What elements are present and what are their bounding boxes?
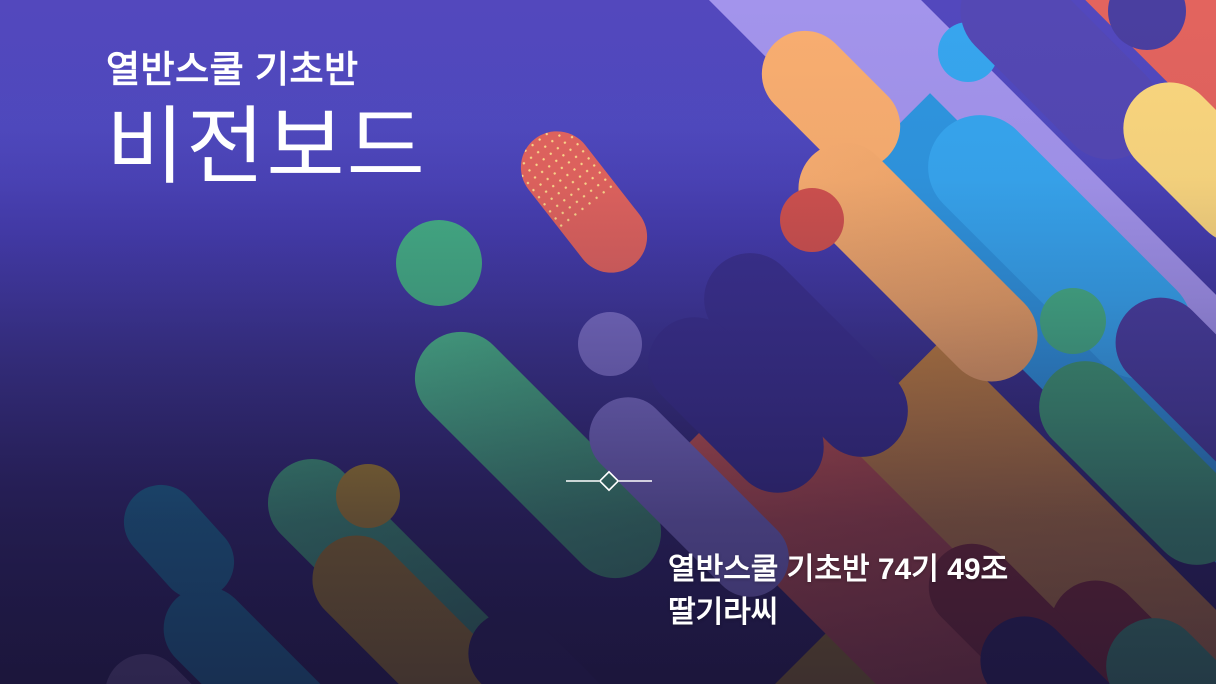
red-circle-shape	[780, 188, 844, 252]
page-title: 비전보드	[106, 98, 726, 198]
credit-block: 열반스쿨 기초반 74기 49조 딸기라씨	[668, 549, 1188, 634]
eyebrow-text: 열반스쿨 기초반	[106, 48, 726, 92]
lavender-circle-shape	[578, 312, 642, 376]
gold-circle-shape	[336, 464, 400, 528]
diamond-divider-icon	[566, 470, 652, 492]
dark-navy-capsule-shape	[451, 594, 673, 684]
headline-group: 열반스쿨 기초반 비전보드	[106, 48, 726, 198]
green-circle-shape	[396, 220, 482, 306]
green-circle-right-shape	[1040, 288, 1106, 354]
presentation-slide: 열반스쿨 기초반 비전보드 열반스쿨 기초반 74기 49조 딸기라씨	[0, 0, 1216, 684]
credit-line-2: 딸기라씨	[668, 592, 1188, 635]
credit-line-1: 열반스쿨 기초반 74기 49조	[668, 549, 1188, 592]
